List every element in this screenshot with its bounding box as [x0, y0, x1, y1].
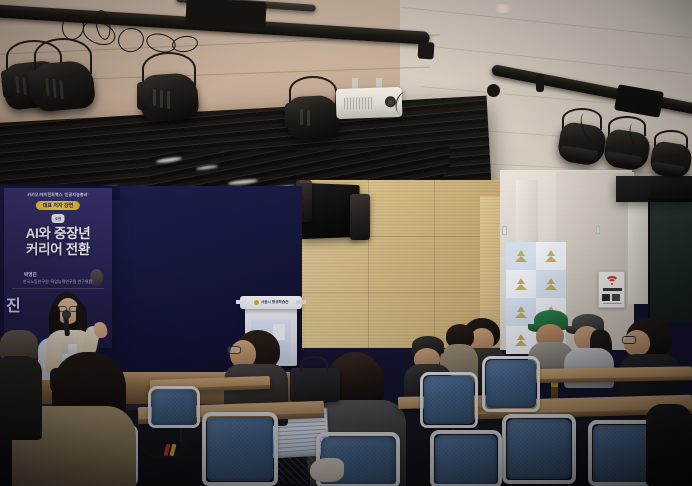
- backdrop-logo: [512, 278, 530, 290]
- wall-panel-seam: [434, 180, 435, 348]
- bag: [290, 368, 340, 402]
- ceiling-downlight: [492, 4, 514, 13]
- wall-monitor-right: [648, 198, 692, 322]
- chair: [148, 386, 200, 428]
- podium-logo-text: 서울시 평생학습관: [261, 300, 288, 305]
- truss-clamp: [536, 74, 544, 92]
- chair: [430, 430, 502, 486]
- banner-badge: 오전: [52, 214, 65, 223]
- banner-title-line1: AI와 중장년: [4, 226, 112, 242]
- audience-member-right-edge: [646, 404, 692, 486]
- bottle-cap: [551, 382, 558, 387]
- exit-sign: [596, 226, 600, 234]
- chair: [202, 412, 278, 486]
- audience-member-right: [620, 318, 684, 406]
- backdrop-logo: [542, 278, 560, 290]
- podium-top-left-edge: [236, 300, 246, 304]
- poster-footer-line: [603, 303, 622, 304]
- microphone-head: [62, 310, 71, 319]
- bag-handle: [300, 356, 328, 372]
- knit-item: [310, 458, 344, 482]
- backdrop-tile: [536, 242, 566, 270]
- truss-mount-box: [185, 0, 266, 28]
- truss-end-cap: [417, 42, 434, 60]
- wall-speaker: [350, 194, 370, 240]
- poster-badge: [612, 294, 620, 301]
- backdrop-logo: [542, 250, 560, 262]
- poster-title-bar: [603, 288, 622, 291]
- backdrop-tile: [506, 270, 536, 298]
- torso: [646, 404, 692, 486]
- backdrop-tile: [506, 242, 536, 270]
- banner-speaker-affiliation: 한국노동연구원 '직업능력연구원 연구위원': [4, 279, 112, 285]
- exit-sign: [502, 226, 507, 235]
- podium-top-surface: 서울시 평생학습관: [240, 296, 302, 309]
- ceiling-projector: [335, 87, 402, 119]
- backdrop-tile: [536, 270, 566, 298]
- audience-member-left-edge: [0, 330, 46, 440]
- wall-monitor-top: [616, 176, 692, 202]
- banner-lower-text: 진: [6, 292, 20, 316]
- wall-panel-seam: [300, 292, 500, 293]
- wifi-icon: [605, 276, 619, 285]
- lecture-hall-photo: 카카오/에이전트북스 '인공지능총서' 대표 저자 강연 오전 AI와 중장년 …: [0, 0, 692, 486]
- truss-end-cap: [487, 84, 500, 97]
- chair: [502, 414, 576, 484]
- wifi-poster: [598, 271, 625, 308]
- torso: [0, 356, 42, 440]
- banner-pill-label: 대표 저자 강연: [36, 201, 80, 210]
- backdrop-logo: [512, 250, 530, 262]
- glasses-icon: [622, 336, 636, 344]
- banner-title-line2: 커리어 전환: [4, 242, 112, 258]
- poster-badge: [602, 294, 610, 301]
- glasses-icon: [227, 346, 241, 354]
- podium-top-right-edge: [296, 300, 306, 304]
- chair: [482, 356, 540, 412]
- banner-speaker-name: 박영진: [24, 272, 37, 278]
- chair: [420, 372, 478, 428]
- banner-divider: [12, 288, 104, 289]
- podium-logo-mark: [254, 300, 259, 305]
- banner-top-line: 카카오/에이전트북스 '인공지능총서': [4, 192, 112, 198]
- banner-title: AI와 중장년 커리어 전환: [4, 226, 112, 258]
